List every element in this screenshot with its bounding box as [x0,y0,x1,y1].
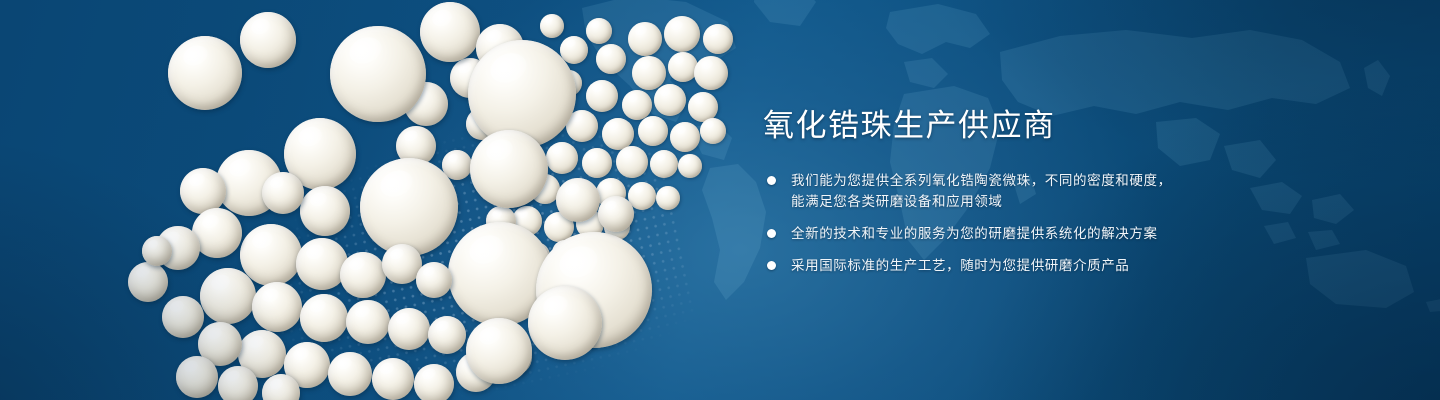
hero-banner: 氧化锆珠生产供应商 我们能为您提供全系列氧化锆陶瓷微珠，不同的密度和硬度， 能满… [0,0,1440,400]
feature-list: 我们能为您提供全系列氧化锆陶瓷微珠，不同的密度和硬度， 能满足您各类研磨设备和应… [763,170,1283,276]
bullet-dot-icon [767,229,776,238]
page-title: 氧化锆珠生产供应商 [763,108,1283,144]
list-item: 采用国际标准的生产工艺，随时为您提供研磨介质产品 [763,255,1283,276]
feature-text-line1: 采用国际标准的生产工艺，随时为您提供研磨介质产品 [791,258,1129,273]
bullet-dot-icon [767,261,776,270]
list-item: 全新的技术和专业的服务为您的研磨提供系统化的解决方案 [763,223,1283,244]
banner-copy: 氧化锆珠生产供应商 我们能为您提供全系列氧化锆陶瓷微珠，不同的密度和硬度， 能满… [763,108,1283,276]
feature-text-line1: 我们能为您提供全系列氧化锆陶瓷微珠，不同的密度和硬度， [791,173,1172,188]
bullet-dot-icon [767,176,776,185]
feature-text-line2: 能满足您各类研磨设备和应用领域 [791,191,1283,212]
list-item: 我们能为您提供全系列氧化锆陶瓷微珠，不同的密度和硬度， 能满足您各类研磨设备和应… [763,170,1283,212]
feature-text-line1: 全新的技术和专业的服务为您的研磨提供系统化的解决方案 [791,226,1158,241]
